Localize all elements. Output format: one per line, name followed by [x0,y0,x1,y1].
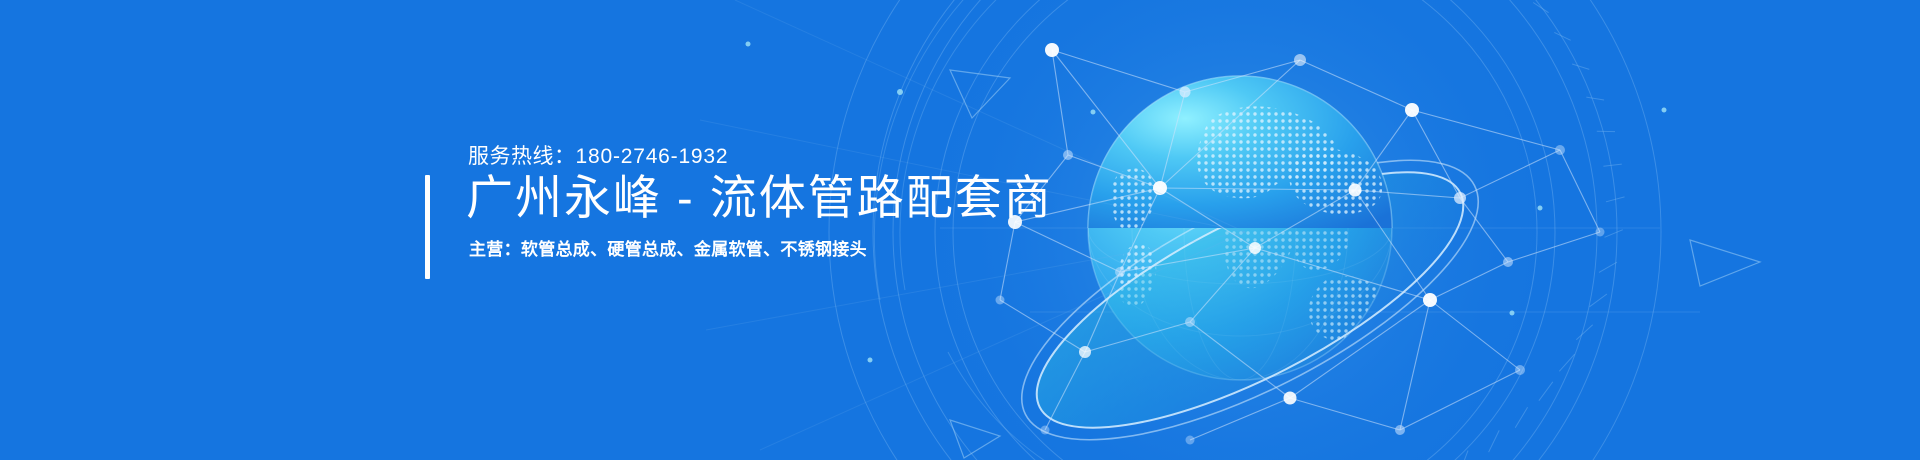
page-title: 广州永峰 - 流体管路配套商 [466,168,1053,228]
banner-text-block: 服务热线：180-2746-1932 广州永峰 - 流体管路配套商 主营：软管总… [425,128,1125,308]
promo-banner: 服务热线：180-2746-1932 广州永峰 - 流体管路配套商 主营：软管总… [0,0,1920,460]
hotline-label: 服务热线： [468,145,576,168]
product-list-subtitle: 主营：软管总成、硬管总成、金属软管、不锈钢接头 [469,238,867,262]
accent-bar [425,175,430,279]
service-hotline: 服务热线：180-2746-1932 [468,140,728,170]
hotline-number: 180-2746-1932 [576,145,729,168]
